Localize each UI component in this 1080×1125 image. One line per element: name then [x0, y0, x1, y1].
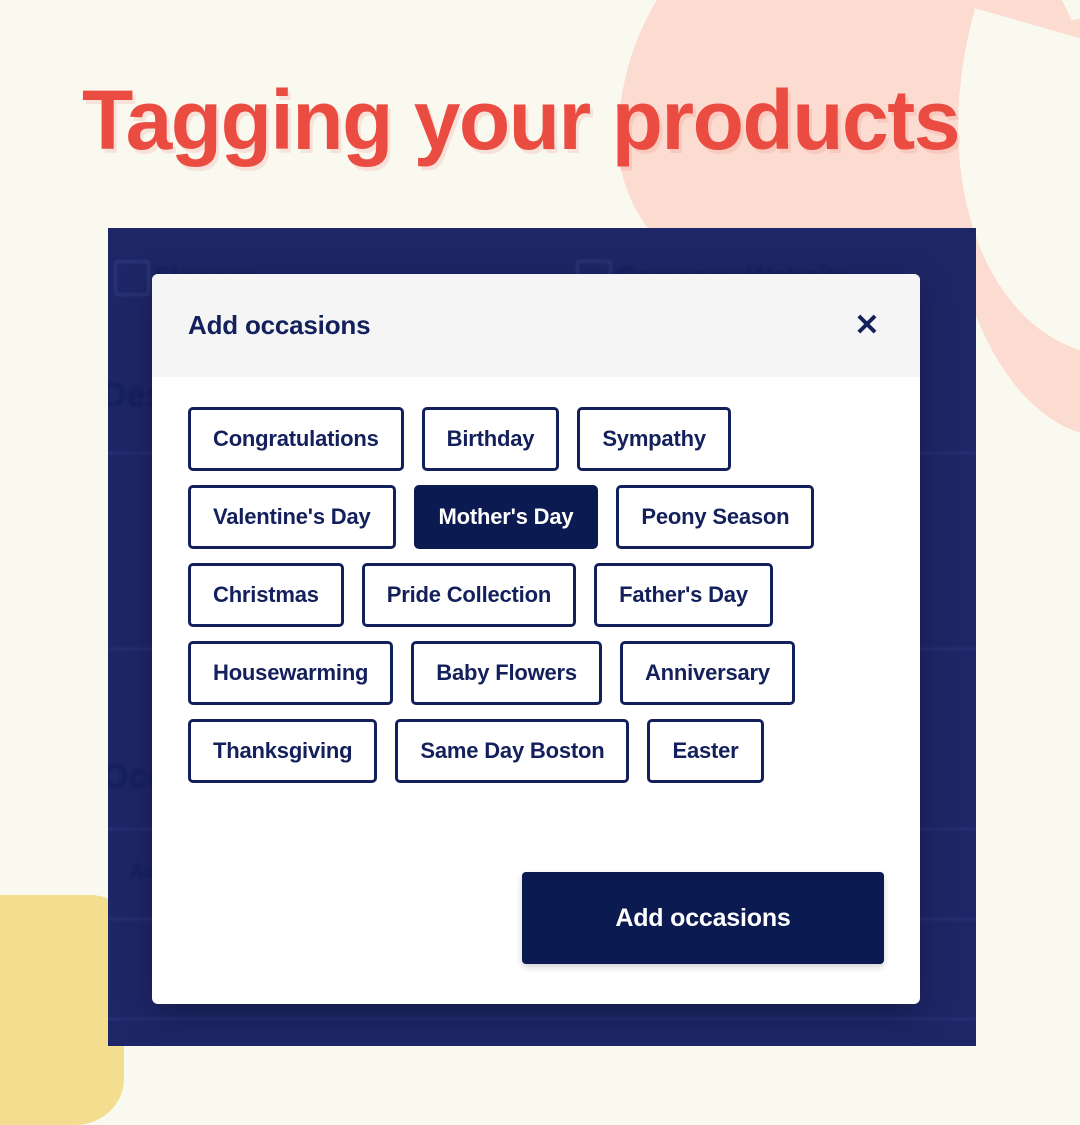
- occasion-chip[interactable]: Thanksgiving: [188, 719, 377, 783]
- modal-title: Add occasions: [188, 310, 370, 341]
- yellow-blob-decoration: [0, 895, 124, 1125]
- background-checkbox-flowers[interactable]: [114, 260, 150, 296]
- occasion-chip[interactable]: Easter: [647, 719, 763, 783]
- occasion-chip[interactable]: Mother's Day: [414, 485, 599, 549]
- add-occasions-button[interactable]: Add occasions: [522, 872, 884, 964]
- occasion-chip[interactable]: Peony Season: [616, 485, 814, 549]
- add-occasions-modal: Add occasions ✕ CongratulationsBirthdayS…: [152, 274, 920, 1004]
- occasion-chip[interactable]: Anniversary: [620, 641, 795, 705]
- occasion-chip[interactable]: Valentine's Day: [188, 485, 396, 549]
- close-icon[interactable]: ✕: [850, 309, 884, 343]
- modal-header: Add occasions ✕: [152, 274, 920, 377]
- occasion-chip[interactable]: Sympathy: [577, 407, 731, 471]
- page-title: Tagging your products: [82, 72, 959, 168]
- occasion-chip-list: CongratulationsBirthdaySympathyValentine…: [188, 407, 848, 783]
- modal-body: CongratulationsBirthdaySympathyValentine…: [152, 377, 920, 872]
- occasion-chip[interactable]: Housewarming: [188, 641, 393, 705]
- occasion-chip[interactable]: Christmas: [188, 563, 344, 627]
- occasion-chip[interactable]: Congratulations: [188, 407, 404, 471]
- background-divider: [108, 1018, 976, 1020]
- occasion-chip[interactable]: Pride Collection: [362, 563, 576, 627]
- occasion-chip[interactable]: Father's Day: [594, 563, 773, 627]
- modal-footer: Add occasions: [152, 872, 920, 1004]
- occasion-chip[interactable]: Baby Flowers: [411, 641, 602, 705]
- occasion-chip[interactable]: Birthday: [422, 407, 560, 471]
- occasion-chip[interactable]: Same Day Boston: [395, 719, 629, 783]
